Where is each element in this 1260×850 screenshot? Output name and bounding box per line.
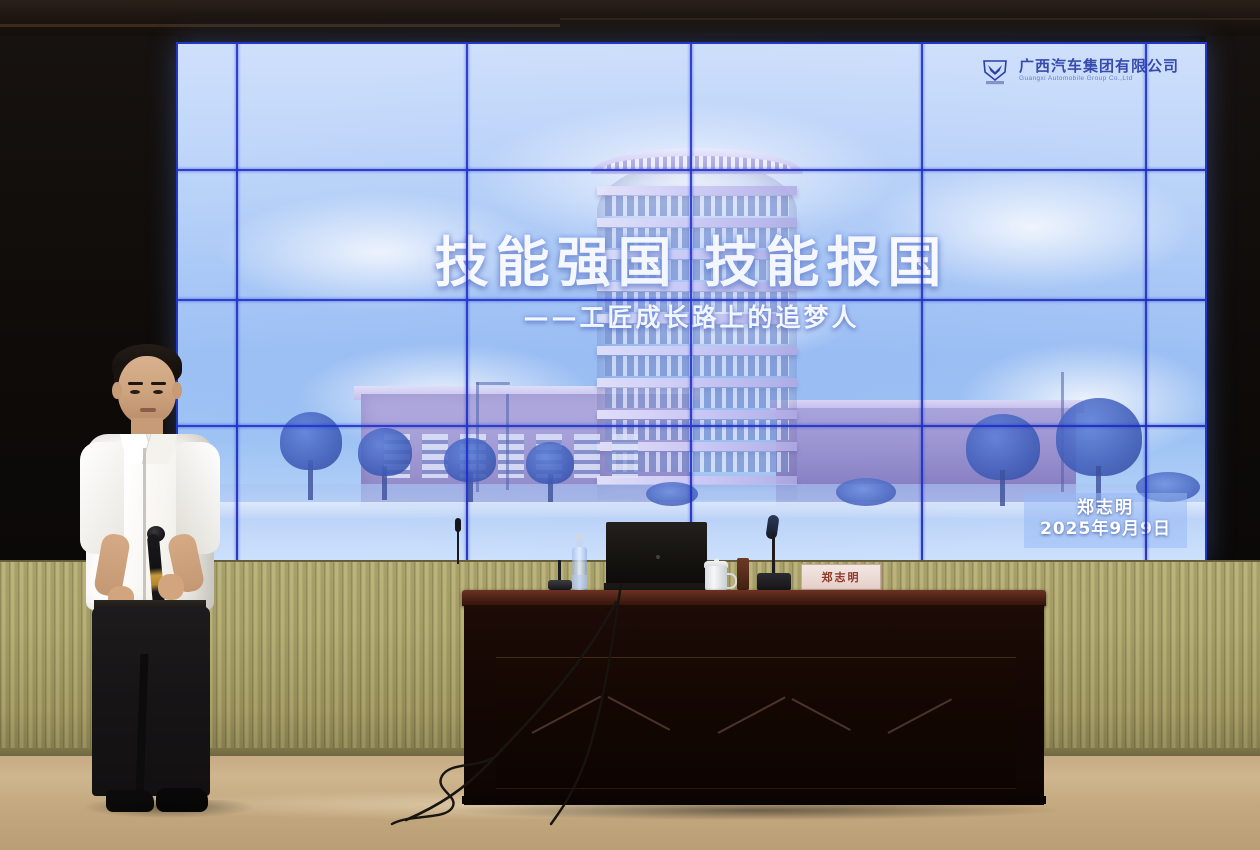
tower-band (597, 378, 797, 387)
tea-mug (704, 558, 730, 591)
desk-nameplate: 郑志明 (801, 564, 881, 590)
presenter-shadow (84, 800, 254, 818)
tower-window-row (605, 196, 789, 216)
presenter-eye (130, 390, 140, 394)
presenter-ear (172, 382, 182, 399)
video-wall-bezel-horizontal (176, 169, 1207, 171)
microphone-stem (457, 531, 459, 564)
presenter-eyebrow (128, 382, 143, 385)
back-wall-right (1206, 36, 1260, 566)
presenter-person (72, 338, 242, 826)
tree (444, 438, 496, 482)
lamp-post (506, 394, 509, 490)
microphone-gooseneck (772, 533, 775, 575)
microphone-stand-left (455, 518, 461, 564)
laptop-logo-dot (656, 555, 660, 559)
tree (526, 442, 574, 484)
microphone-head (455, 518, 461, 532)
video-wall-bezel-vertical (1145, 42, 1147, 562)
presenter-ear (112, 382, 122, 399)
table-chevron (792, 698, 851, 731)
tree (280, 412, 342, 470)
ceiling-seam-secondary (560, 18, 1260, 20)
wing-window (574, 434, 600, 478)
laptop-lid (606, 522, 707, 584)
tower-window-row (605, 356, 789, 376)
logo-name-cn: 广西汽车集团有限公司 (1019, 59, 1179, 75)
microphone-base (757, 573, 791, 591)
chair-back (737, 558, 749, 590)
tower-band (597, 186, 797, 195)
gooseneck-microphone (757, 515, 791, 591)
video-wall-bezel-vertical (921, 42, 923, 562)
presenter-eye (153, 390, 163, 394)
caption-date: 2025年9月9日 (1040, 519, 1171, 541)
desk-nameplate-text: 郑志明 (822, 569, 861, 585)
tower-band (597, 346, 797, 355)
caption-presenter-name: 郑志明 (1040, 498, 1171, 520)
wing-window (498, 434, 524, 478)
microphone-stem (558, 560, 561, 582)
tower-band (597, 410, 797, 419)
tower-window-row (605, 388, 789, 408)
presenter-shirt-placket (143, 448, 146, 608)
video-wall-bezel-vertical (466, 42, 468, 562)
table-chevron (888, 698, 953, 734)
wing-window (612, 434, 638, 478)
shrub (836, 478, 896, 506)
presenter-mouth (140, 408, 156, 412)
video-wall-bezel-vertical (690, 42, 692, 562)
slide-caption: 郑志明 2025年9月9日 (1024, 493, 1187, 549)
lamp-arm (476, 382, 510, 385)
floor-cable-right (545, 580, 665, 830)
presenter-head (118, 356, 176, 424)
mug-body (705, 566, 727, 591)
wuling-logo-icon (980, 56, 1010, 86)
logo-name-en: Guangxi Automobile Group Co.,Ltd (1019, 76, 1179, 83)
presenter-hand (158, 574, 184, 600)
slide-surface: 广西汽车集团有限公司 Guangxi Automobile Group Co.,… (176, 42, 1207, 562)
tree-trunk (1000, 470, 1005, 506)
video-wall-bezel-horizontal (176, 425, 1207, 427)
presenter-eyebrow (151, 382, 166, 385)
ceiling-seam (0, 24, 560, 27)
tree (1056, 398, 1142, 476)
presentation-scene: 广西汽车集团有限公司 Guangxi Automobile Group Co.,… (0, 0, 1260, 850)
table-chevron (718, 696, 786, 733)
company-logo: 广西汽车集团有限公司 Guangxi Automobile Group Co.,… (980, 56, 1179, 86)
presenter-trousers (92, 606, 210, 796)
led-video-wall[interactable]: 广西汽车集团有限公司 Guangxi Automobile Group Co.,… (176, 42, 1207, 562)
video-wall-bezel-horizontal (176, 299, 1207, 301)
tree (358, 428, 412, 476)
